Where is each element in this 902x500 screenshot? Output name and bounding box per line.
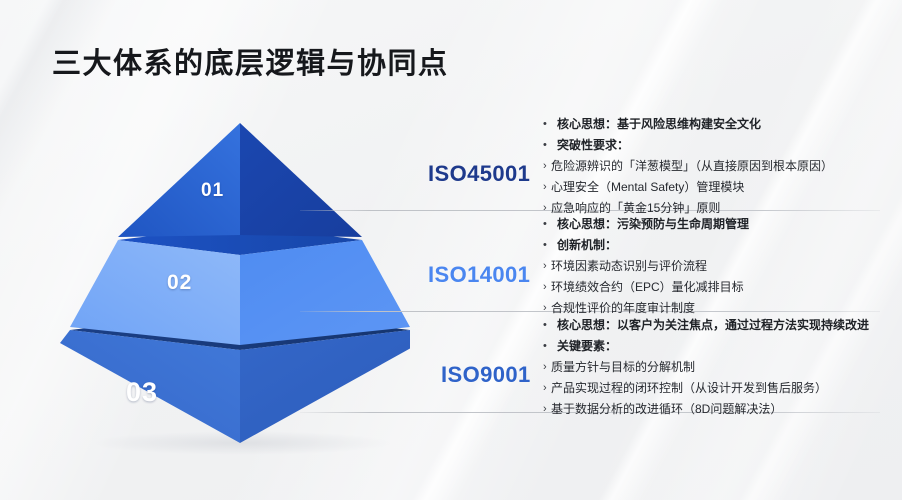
label-iso45001: ISO45001 [428, 161, 530, 187]
sub-item-text: 环境因素动态识别与评价流程 [551, 259, 707, 273]
label-iso14001: ISO14001 [428, 262, 530, 288]
chevron-right-icon: › [543, 259, 551, 273]
sub-item-row: › 环境绩效合约（EPC）量化减排目标 [543, 280, 893, 294]
slide-canvas: 三大体系的底层逻辑与协同点 [0, 0, 902, 500]
page-title: 三大体系的底层逻辑与协同点 [52, 40, 449, 82]
bullet-text: 核心思想：以客户为关注焦点，通过过程方法实现持续改进 [557, 318, 869, 332]
bullet-row: • 突破性要求： [543, 138, 893, 152]
tier-number-01: 01 [201, 180, 224, 202]
bullet-text: 突破性要求： [557, 138, 629, 152]
sub-item-text: 产品实现过程的闭环控制（从设计开发到售后服务） [551, 381, 827, 395]
sub-item-text: 合规性评价的年度审计制度 [551, 301, 695, 315]
sub-item-text: 质量方针与目标的分解机制 [551, 360, 695, 374]
tier2-right-face [240, 240, 410, 345]
sub-item-text: 基于数据分析的改进循环（8D问题解决法） [551, 402, 782, 416]
sub-item-row: › 合规性评价的年度审计制度 [543, 301, 893, 315]
content-block-iso45001: • 核心思想：基于风险思维构建安全文化 • 突破性要求： › 危险源辨识的「洋葱… [543, 117, 893, 215]
tier2-left-face [70, 240, 240, 345]
pyramid-diagram: 01 02 03 [60, 105, 410, 455]
chevron-right-icon: › [543, 402, 551, 416]
sub-item-row: › 基于数据分析的改进循环（8D问题解决法） [543, 402, 893, 416]
sub-item-row: › 危险源辨识的「洋葱模型」（从直接原因到根本原因） [543, 159, 893, 173]
sub-item-row: › 质量方针与目标的分解机制 [543, 360, 893, 374]
sub-item-row: › 环境因素动态识别与评价流程 [543, 259, 893, 273]
sub-item-text: 环境绩效合约（EPC）量化减排目标 [551, 280, 744, 294]
bullet-dot-icon: • [543, 117, 557, 131]
bullet-row: • 核心思想：基于风险思维构建安全文化 [543, 117, 893, 131]
chevron-right-icon: › [543, 381, 551, 395]
sub-item-row: › 心理安全（Mental Safety）管理模块 [543, 180, 893, 194]
chevron-right-icon: › [543, 280, 551, 294]
bullet-dot-icon: • [543, 318, 557, 332]
bullet-row: • 核心思想：以客户为关注焦点，通过过程方法实现持续改进 [543, 318, 893, 332]
chevron-right-icon: › [543, 360, 551, 374]
sub-item-text: 危险源辨识的「洋葱模型」（从直接原因到根本原因） [551, 159, 833, 173]
bullet-dot-icon: • [543, 138, 557, 152]
bullet-text: 创新机制： [557, 238, 617, 252]
sub-item-text: 心理安全（Mental Safety）管理模块 [551, 180, 744, 194]
tier1-right-face [240, 123, 362, 237]
bullet-text: 核心思想：基于风险思维构建安全文化 [557, 117, 761, 131]
tier-number-02: 02 [167, 271, 192, 295]
pyramid-svg [60, 105, 410, 455]
bullet-row: • 核心思想：污染预防与生命周期管理 [543, 217, 893, 231]
bullet-row: • 关键要素： [543, 339, 893, 353]
chevron-right-icon: › [543, 301, 551, 315]
sub-item-row: › 产品实现过程的闭环控制（从设计开发到售后服务） [543, 381, 893, 395]
tier-number-03: 03 [126, 377, 158, 408]
bullet-dot-icon: • [543, 339, 557, 353]
content-block-iso9001: • 核心思想：以客户为关注焦点，通过过程方法实现持续改进 • 关键要素： › 质… [543, 318, 893, 416]
bullet-text: 核心思想：污染预防与生命周期管理 [557, 217, 749, 231]
chevron-right-icon: › [543, 180, 551, 194]
chevron-right-icon: › [543, 201, 551, 215]
sub-item-row: › 应急响应的「黄金15分钟」原则 [543, 201, 893, 215]
bullet-row: • 创新机制： [543, 238, 893, 252]
content-block-iso14001: • 核心思想：污染预防与生命周期管理 • 创新机制： › 环境因素动态识别与评价… [543, 217, 893, 315]
label-iso9001: ISO9001 [441, 362, 531, 388]
bullet-dot-icon: • [543, 217, 557, 231]
chevron-right-icon: › [543, 159, 551, 173]
bullet-dot-icon: • [543, 238, 557, 252]
sub-item-text: 应急响应的「黄金15分钟」原则 [551, 201, 720, 215]
bullet-text: 关键要素： [557, 339, 617, 353]
